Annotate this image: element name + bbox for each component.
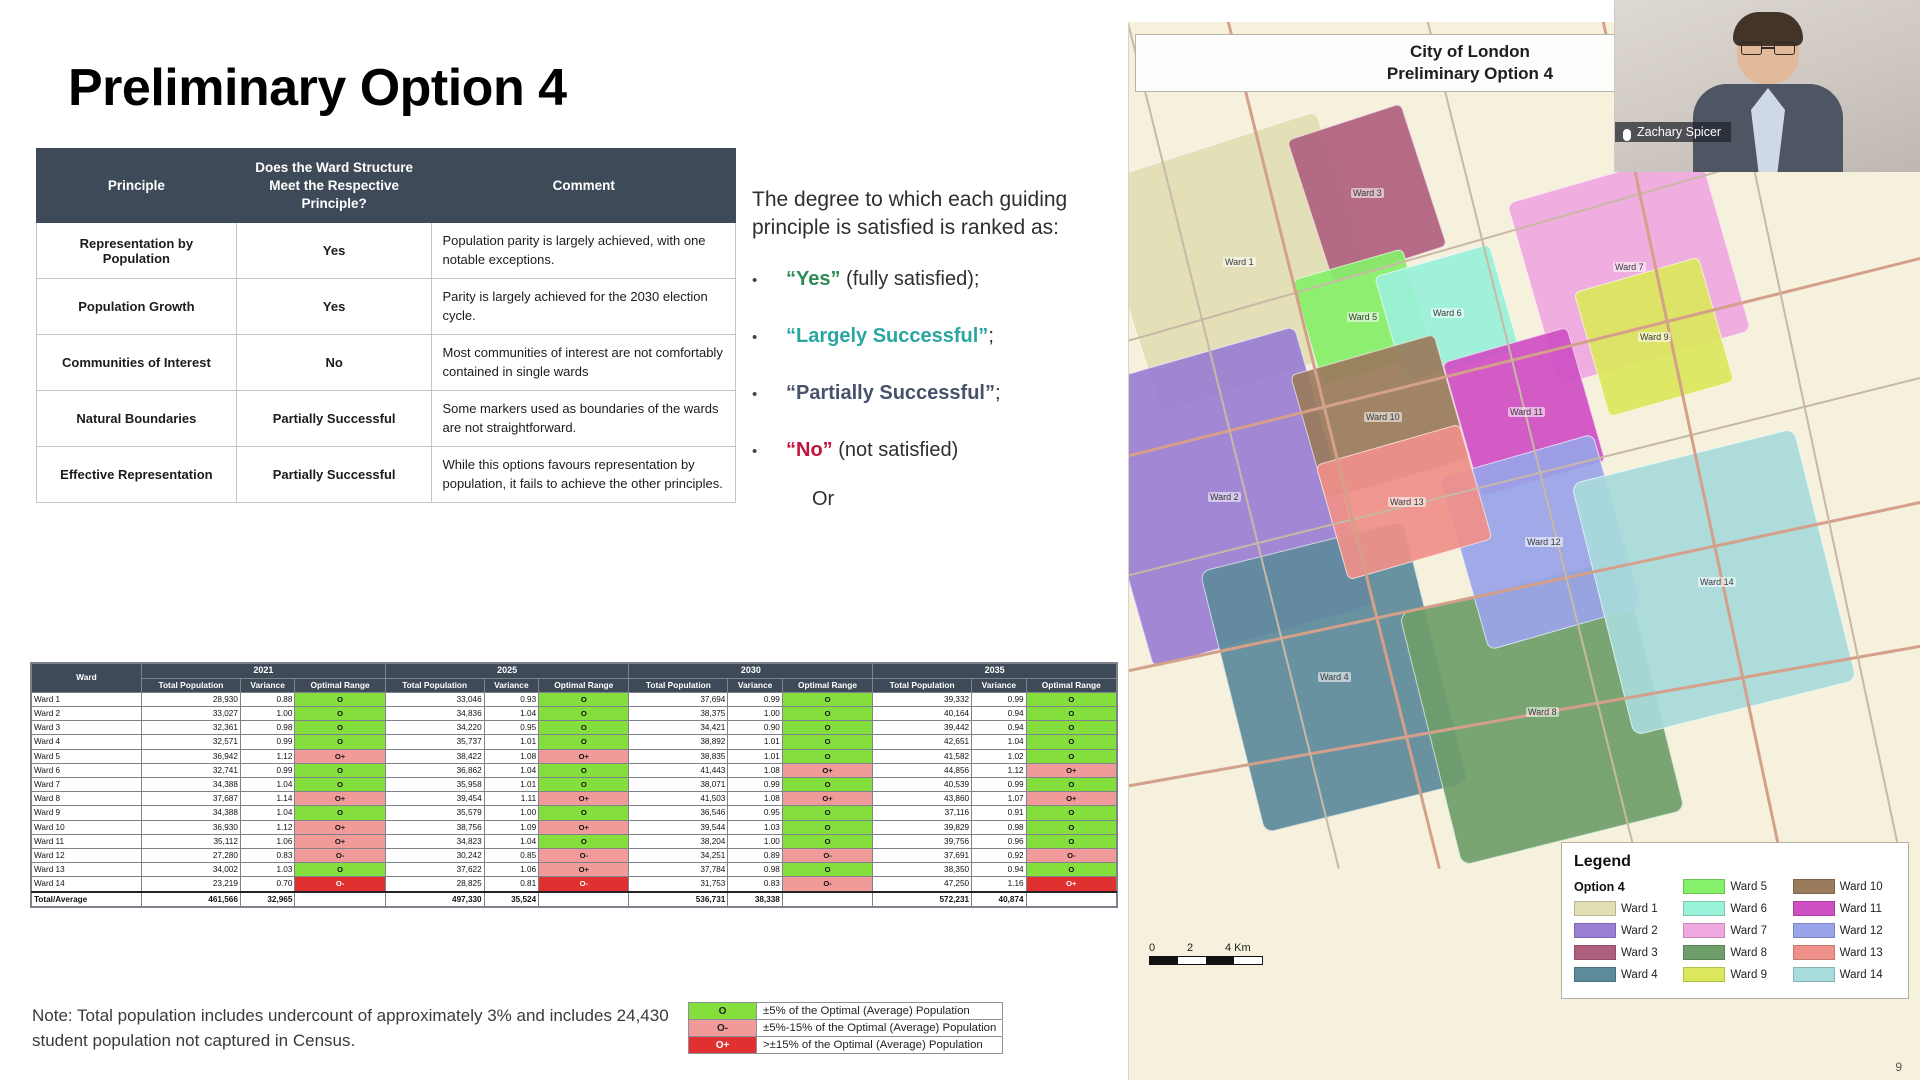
- principle-comment: Population parity is largely achieved, w…: [432, 223, 736, 279]
- header-year: 2021: [142, 664, 386, 679]
- total-population: 33,027: [142, 707, 241, 721]
- optimal-range-flag: O+: [539, 792, 629, 806]
- total-population: 30,242: [385, 849, 484, 863]
- optimal-range-flag: O: [295, 721, 385, 735]
- map-scalebar: 024 Km: [1149, 942, 1263, 965]
- variance: 0.99: [972, 692, 1027, 706]
- rank-term-suffix: ;: [988, 325, 994, 347]
- variance: 1.01: [484, 778, 539, 792]
- total-population: 36,930: [142, 820, 241, 834]
- variance: 1.12: [240, 820, 295, 834]
- code-legend-text: ±5%-15% of the Optimal (Average) Populat…: [757, 1020, 1003, 1037]
- total-population: 33,046: [385, 692, 484, 706]
- total-population: 35,737: [385, 735, 484, 749]
- header-optimal-range: Optimal Range: [539, 678, 629, 692]
- optimal-range-flag: O: [782, 707, 872, 721]
- map-ward-label: Ward 7: [1613, 262, 1646, 272]
- totals-flag-spacer: [539, 892, 629, 907]
- legend-item-label: Ward 9: [1730, 969, 1767, 981]
- total-population: 38,892: [629, 735, 728, 749]
- code-legend-row: O±5% of the Optimal (Average) Population: [689, 1003, 1003, 1020]
- total-population: 34,836: [385, 707, 484, 721]
- microphone-icon: [1623, 129, 1631, 141]
- optimal-range-flag: O+: [1026, 792, 1116, 806]
- table-row: Ward 233,0271.00O34,8361.04O38,3751.00O4…: [32, 707, 1117, 721]
- totals-average: 40,874: [972, 892, 1027, 907]
- total-population: 37,784: [629, 863, 728, 877]
- principles-row: Population GrowthYesParity is largely ac…: [37, 279, 736, 335]
- totals-population: 536,731: [629, 892, 728, 907]
- variance: 0.91: [972, 806, 1027, 820]
- variance: 0.70: [240, 877, 295, 892]
- total-population: 23,219: [142, 877, 241, 892]
- table-row: Ward 432,5710.99O35,7371.01O38,8921.01O4…: [32, 735, 1117, 749]
- table-row: Ward 734,3881.04O35,9581.01O38,0710.99O4…: [32, 778, 1117, 792]
- legend-item-label: Ward 4: [1621, 969, 1658, 981]
- principles-table: Principle Does the Ward Structure Meet t…: [36, 148, 736, 503]
- variance: 0.99: [240, 735, 295, 749]
- rank-term-suffix: (fully satisfied);: [840, 268, 979, 290]
- glasses-icon: [1741, 42, 1795, 55]
- table-totals-row: Total/Average461,56632,965497,33035,5245…: [32, 892, 1117, 907]
- variance: 0.83: [240, 849, 295, 863]
- rank-explainer: The degree to which each guiding princip…: [752, 186, 1112, 496]
- optimal-range-flag: O: [295, 735, 385, 749]
- header-comment: Comment: [432, 149, 736, 223]
- legend-item-label: Ward 6: [1730, 903, 1767, 915]
- total-population: 32,741: [142, 763, 241, 777]
- ward-label: Ward 12: [32, 849, 142, 863]
- code-legend-text: ±5% of the Optimal (Average) Population: [757, 1003, 1003, 1020]
- total-population: 38,422: [385, 749, 484, 763]
- variance-code-legend: O±5% of the Optimal (Average) Population…: [688, 1002, 1003, 1054]
- header-principle: Principle: [37, 149, 237, 223]
- map-ward-label: Ward 9: [1638, 332, 1671, 342]
- totals-population: 572,231: [873, 892, 972, 907]
- ward-label: Ward 10: [32, 820, 142, 834]
- optimal-range-flag: O+: [295, 820, 385, 834]
- variance: 1.03: [728, 820, 783, 834]
- table-row: Ward 1334,0021.03O37,6221.06O+37,7840.98…: [32, 863, 1117, 877]
- legend-color-swatch: [1574, 967, 1616, 982]
- variance: 0.98: [972, 820, 1027, 834]
- legend-item-label: Ward 14: [1840, 969, 1883, 981]
- optimal-range-flag: O: [1026, 707, 1116, 721]
- bullet-dot-icon: •: [752, 272, 786, 289]
- ward-header-years: Ward2021202520302035: [32, 664, 1117, 679]
- total-population: 37,687: [142, 792, 241, 806]
- ward-table-note: Note: Total population includes undercou…: [32, 1004, 672, 1053]
- rank-intro-text: The degree to which each guiding princip…: [752, 186, 1112, 242]
- legend-item-ward-2: Ward 2: [1574, 921, 1677, 940]
- code-legend-swatch: O+: [689, 1037, 757, 1054]
- map-ward-label: Ward 6: [1431, 308, 1464, 318]
- total-population: 36,546: [629, 806, 728, 820]
- optimal-range-flag: O: [1026, 863, 1116, 877]
- variance: 0.98: [240, 721, 295, 735]
- total-population: 41,503: [629, 792, 728, 806]
- legend-color-swatch: [1683, 879, 1725, 894]
- ward-label: Ward 8: [32, 792, 142, 806]
- total-population: 34,220: [385, 721, 484, 735]
- total-population: 36,862: [385, 763, 484, 777]
- variance: 1.11: [484, 792, 539, 806]
- variance: 1.08: [484, 749, 539, 763]
- optimal-range-flag: O: [539, 806, 629, 820]
- variance: 1.06: [484, 863, 539, 877]
- legend-option-label: Option 4: [1574, 877, 1677, 896]
- variance: 1.04: [484, 707, 539, 721]
- optimal-range-flag: O: [295, 707, 385, 721]
- ward-label: Ward 4: [32, 735, 142, 749]
- optimal-range-flag: O: [295, 763, 385, 777]
- variance: 1.12: [240, 749, 295, 763]
- map-ward-label: Ward 13: [1388, 497, 1426, 507]
- total-population: 37,116: [873, 806, 972, 820]
- optimal-range-flag: O+: [539, 820, 629, 834]
- principle-verdict: Partially Successful: [236, 391, 432, 447]
- header-variance: Variance: [484, 678, 539, 692]
- total-population: 38,835: [629, 749, 728, 763]
- optimal-range-flag: O: [782, 692, 872, 706]
- legend-item-ward-8: Ward 8: [1683, 943, 1786, 962]
- header-year: 2035: [873, 664, 1117, 679]
- optimal-range-flag: O: [295, 692, 385, 706]
- variance: 0.94: [972, 707, 1027, 721]
- totals-population: 497,330: [385, 892, 484, 907]
- principle-verdict: Yes: [236, 279, 432, 335]
- total-population: 38,375: [629, 707, 728, 721]
- rank-bullet-item: •“Yes” (fully satisfied);: [752, 268, 1112, 291]
- totals-flag-spacer: [295, 892, 385, 907]
- legend-color-swatch: [1793, 879, 1835, 894]
- optimal-range-flag: O: [782, 749, 872, 763]
- code-legend-swatch: O: [689, 1003, 757, 1020]
- principle-verdict: Partially Successful: [236, 447, 432, 503]
- ward-label: Ward 3: [32, 721, 142, 735]
- optimal-range-flag: O: [782, 806, 872, 820]
- legend-item-ward-7: Ward 7: [1683, 921, 1786, 940]
- variance: 0.83: [728, 877, 783, 892]
- principles-header-row: Principle Does the Ward Structure Meet t…: [37, 149, 736, 223]
- optimal-range-flag: O: [539, 721, 629, 735]
- rank-or-text: Or: [812, 488, 834, 511]
- ward-label: Ward 14: [32, 877, 142, 892]
- table-row: Ward 837,6871.14O+39,4541.11O+41,5031.08…: [32, 792, 1117, 806]
- legend-item-ward-9: Ward 9: [1683, 965, 1786, 984]
- legend-color-swatch: [1683, 901, 1725, 916]
- rank-term: “Yes”: [786, 268, 840, 290]
- header-total-population: Total Population: [142, 678, 241, 692]
- optimal-range-flag: O: [539, 707, 629, 721]
- ward-table: Ward2021202520302035Total PopulationVari…: [31, 663, 1117, 907]
- ward-label: Ward 7: [32, 778, 142, 792]
- variance: 1.04: [484, 834, 539, 848]
- optimal-range-flag: O: [539, 735, 629, 749]
- total-population: 40,164: [873, 707, 972, 721]
- table-row: Ward 1036,9301.12O+38,7561.09O+39,5441.0…: [32, 820, 1117, 834]
- optimal-range-flag: O+: [1026, 763, 1116, 777]
- scalebar-tick: 0: [1149, 942, 1187, 954]
- variance: 1.08: [728, 792, 783, 806]
- ward-label: Ward 1: [32, 692, 142, 706]
- optimal-range-flag: O: [782, 721, 872, 735]
- page-title: Preliminary Option 4: [68, 58, 567, 118]
- optimal-range-flag: O: [1026, 735, 1116, 749]
- map-ward-label: Ward 12: [1525, 537, 1563, 547]
- total-population: 35,579: [385, 806, 484, 820]
- map-ward-label: Ward 8: [1526, 707, 1559, 717]
- principle-comment: While this options favours representatio…: [432, 447, 736, 503]
- optimal-range-flag: O-: [782, 849, 872, 863]
- variance: 1.01: [728, 735, 783, 749]
- optimal-range-flag: O+: [295, 749, 385, 763]
- optimal-range-flag: O: [1026, 721, 1116, 735]
- variance: 0.81: [484, 877, 539, 892]
- variance: 0.98: [728, 863, 783, 877]
- optimal-range-flag: O-: [539, 877, 629, 892]
- principle-name: Natural Boundaries: [37, 391, 237, 447]
- map-legend-grid: Option 4Ward 5Ward 10Ward 1Ward 6Ward 11…: [1574, 877, 1896, 984]
- variance: 0.99: [240, 763, 295, 777]
- variance: 0.96: [972, 834, 1027, 848]
- legend-color-swatch: [1793, 923, 1835, 938]
- legend-item-ward-10: Ward 10: [1793, 877, 1896, 896]
- legend-item-label: Ward 13: [1840, 947, 1883, 959]
- optimal-range-flag: O-: [539, 849, 629, 863]
- total-population: 32,571: [142, 735, 241, 749]
- variance: 0.99: [728, 692, 783, 706]
- video-overlay[interactable]: Zachary Spicer: [1614, 0, 1920, 172]
- legend-item-ward-4: Ward 4: [1574, 965, 1677, 984]
- ward-label: Ward 2: [32, 707, 142, 721]
- scalebar-bar: [1149, 956, 1263, 965]
- map-ward-label: Ward 1: [1223, 257, 1256, 267]
- variance: 1.07: [972, 792, 1027, 806]
- header-optimal-range: Optimal Range: [782, 678, 872, 692]
- code-legend-row: O-±5%-15% of the Optimal (Average) Popul…: [689, 1020, 1003, 1037]
- scalebar-tick: 4 Km: [1225, 942, 1263, 954]
- scalebar-tick: 2: [1187, 942, 1225, 954]
- optimal-range-flag: O+: [539, 749, 629, 763]
- principles-row: Natural BoundariesPartially SuccessfulSo…: [37, 391, 736, 447]
- variance: 1.01: [484, 735, 539, 749]
- variance: 1.12: [972, 763, 1027, 777]
- legend-color-swatch: [1793, 967, 1835, 982]
- ward-header-subs: Total PopulationVarianceOptimal RangeTot…: [32, 678, 1117, 692]
- principle-name: Population Growth: [37, 279, 237, 335]
- legend-item-label: Ward 10: [1840, 881, 1883, 893]
- total-population: 31,753: [629, 877, 728, 892]
- total-population: 34,388: [142, 806, 241, 820]
- variance: 1.04: [240, 778, 295, 792]
- legend-color-swatch: [1683, 967, 1725, 982]
- rank-term-suffix: (not satisfied): [833, 439, 959, 461]
- legend-item-label: Ward 2: [1621, 925, 1658, 937]
- optimal-range-flag: O: [295, 863, 385, 877]
- total-population: 39,829: [873, 820, 972, 834]
- map-ward-label: Ward 14: [1698, 577, 1736, 587]
- optimal-range-flag: O+: [782, 763, 872, 777]
- rank-bullet-list: •“Yes” (fully satisfied);•“Largely Succe…: [752, 268, 1112, 462]
- total-population: 42,651: [873, 735, 972, 749]
- table-row: Ward 934,3881.04O35,5791.00O36,5460.95O3…: [32, 806, 1117, 820]
- totals-flag-spacer: [782, 892, 872, 907]
- optimal-range-flag: O: [782, 834, 872, 848]
- slide-canvas: Preliminary Option 4 Principle Does the …: [0, 0, 1920, 1080]
- total-population: 34,388: [142, 778, 241, 792]
- header-variance: Variance: [728, 678, 783, 692]
- optimal-range-flag: O: [1026, 778, 1116, 792]
- principle-name: Representation by Population: [37, 223, 237, 279]
- header-optimal-range: Optimal Range: [295, 678, 385, 692]
- header-year: 2030: [629, 664, 873, 679]
- variance: 0.94: [972, 863, 1027, 877]
- total-population: 41,582: [873, 749, 972, 763]
- total-population: 39,332: [873, 692, 972, 706]
- variance: 0.95: [484, 721, 539, 735]
- total-population: 43,860: [873, 792, 972, 806]
- legend-color-swatch: [1574, 945, 1616, 960]
- map-ward-label: Ward 5: [1347, 312, 1380, 322]
- optimal-range-flag: O: [1026, 806, 1116, 820]
- total-population: 37,691: [873, 849, 972, 863]
- map-panel[interactable]: Ward 1Ward 2Ward 3Ward 4Ward 5Ward 6Ward…: [1128, 22, 1920, 1080]
- variance: 0.85: [484, 849, 539, 863]
- legend-color-swatch: [1793, 901, 1835, 916]
- legend-item-label: Ward 3: [1621, 947, 1658, 959]
- rank-term-suffix: ;: [995, 382, 1001, 404]
- total-population: 39,442: [873, 721, 972, 735]
- total-population: 34,002: [142, 863, 241, 877]
- totals-average: 35,524: [484, 892, 539, 907]
- principles-row: Communities of InterestNoMost communitie…: [37, 335, 736, 391]
- ward-label: Ward 5: [32, 749, 142, 763]
- total-population: 37,622: [385, 863, 484, 877]
- optimal-range-flag: O: [782, 863, 872, 877]
- header-variance: Variance: [972, 678, 1027, 692]
- total-population: 40,539: [873, 778, 972, 792]
- total-population: 27,280: [142, 849, 241, 863]
- principle-verdict: No: [236, 335, 432, 391]
- optimal-range-flag: O: [539, 692, 629, 706]
- ward-label: Ward 11: [32, 834, 142, 848]
- table-row: Ward 632,7410.99O36,8621.04O41,4431.08O+…: [32, 763, 1117, 777]
- legend-item-ward-14: Ward 14: [1793, 965, 1896, 984]
- total-population: 35,112: [142, 834, 241, 848]
- principles-row: Effective RepresentationPartially Succes…: [37, 447, 736, 503]
- total-population: 47,250: [873, 877, 972, 892]
- variance: 1.01: [728, 749, 783, 763]
- legend-item-label: Ward 11: [1840, 903, 1882, 915]
- table-row: Ward 128,9300.88O33,0460.93O37,6940.99O3…: [32, 692, 1117, 706]
- legend-item-ward-12: Ward 12: [1793, 921, 1896, 940]
- variance: 1.03: [240, 863, 295, 877]
- variance: 1.00: [484, 806, 539, 820]
- total-population: 37,694: [629, 692, 728, 706]
- optimal-range-flag: O-: [782, 877, 872, 892]
- optimal-range-flag: O: [295, 806, 385, 820]
- optimal-range-flag: O+: [295, 792, 385, 806]
- table-row: Ward 1423,2190.70O-28,8250.81O-31,7530.8…: [32, 877, 1117, 892]
- table-row: Ward 536,9421.12O+38,4221.08O+38,8351.01…: [32, 749, 1117, 763]
- variance: 1.04: [972, 735, 1027, 749]
- total-population: 39,454: [385, 792, 484, 806]
- legend-color-swatch: [1574, 923, 1616, 938]
- variance: 0.93: [484, 692, 539, 706]
- variance: 0.92: [972, 849, 1027, 863]
- variance: 1.00: [728, 707, 783, 721]
- variance: 0.94: [972, 721, 1027, 735]
- variance: 0.99: [972, 778, 1027, 792]
- header-total-population: Total Population: [629, 678, 728, 692]
- principles-row: Representation by PopulationYesPopulatio…: [37, 223, 736, 279]
- legend-item-ward-3: Ward 3: [1574, 943, 1677, 962]
- map-ward-label: Ward 11: [1508, 407, 1545, 417]
- optimal-range-flag: O: [782, 778, 872, 792]
- variance: 1.04: [240, 806, 295, 820]
- variance: 1.09: [484, 820, 539, 834]
- variance: 1.02: [972, 749, 1027, 763]
- optimal-range-flag: O-: [1026, 849, 1116, 863]
- optimal-range-flag: O: [295, 778, 385, 792]
- optimal-range-flag: O+: [295, 834, 385, 848]
- optimal-range-flag: O+: [1026, 877, 1116, 892]
- map-title-line-1: City of London: [1410, 41, 1530, 63]
- total-population: 34,421: [629, 721, 728, 735]
- variance: 1.14: [240, 792, 295, 806]
- rank-bullet-item: •“Partially Successful”;: [752, 382, 1112, 405]
- legend-item-ward-1: Ward 1: [1574, 899, 1677, 918]
- legend-color-swatch: [1574, 901, 1616, 916]
- legend-item-label: Ward 8: [1730, 947, 1767, 959]
- total-population: 35,958: [385, 778, 484, 792]
- table-row: Ward 1227,2800.83O-30,2420.85O-34,2510.8…: [32, 849, 1117, 863]
- header-total-population: Total Population: [385, 678, 484, 692]
- ward-population-table: Ward2021202520302035Total PopulationVari…: [30, 662, 1118, 908]
- total-population: 44,856: [873, 763, 972, 777]
- header-variance: Variance: [240, 678, 295, 692]
- variance: 1.00: [240, 707, 295, 721]
- map-ward-label: Ward 2: [1208, 492, 1241, 502]
- rank-term: “No”: [786, 439, 833, 461]
- map-legend-heading: Legend: [1574, 853, 1896, 871]
- legend-item-label: Ward 5: [1730, 881, 1767, 893]
- legend-item-ward-6: Ward 6: [1683, 899, 1786, 918]
- optimal-range-flag: O: [539, 778, 629, 792]
- bullet-dot-icon: •: [752, 443, 786, 460]
- total-population: 38,204: [629, 834, 728, 848]
- rank-bullet-item: •“Largely Successful”;: [752, 325, 1112, 348]
- speaker-hair: [1733, 12, 1803, 46]
- rank-bullet-item: •“No” (not satisfied): [752, 439, 1112, 462]
- total-population: 36,942: [142, 749, 241, 763]
- variance: 0.95: [728, 806, 783, 820]
- legend-color-swatch: [1793, 945, 1835, 960]
- optimal-range-flag: O: [1026, 692, 1116, 706]
- legend-color-swatch: [1683, 945, 1725, 960]
- ward-label: Ward 13: [32, 863, 142, 877]
- variance: 0.88: [240, 692, 295, 706]
- optimal-range-flag: O: [539, 834, 629, 848]
- map-ward-label: Ward 10: [1364, 412, 1402, 422]
- legend-item-ward-5: Ward 5: [1683, 877, 1786, 896]
- total-population: 34,823: [385, 834, 484, 848]
- optimal-range-flag: O-: [295, 849, 385, 863]
- code-legend-row: O+>±15% of the Optimal (Average) Populat…: [689, 1037, 1003, 1054]
- speaker-name-label: Zachary Spicer: [1615, 122, 1731, 142]
- optimal-range-flag: O: [1026, 749, 1116, 763]
